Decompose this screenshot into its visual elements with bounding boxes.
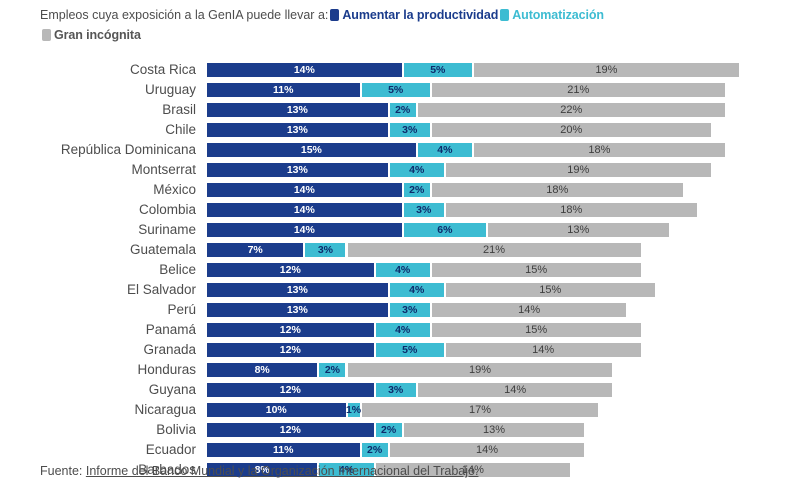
- bar-area: 12%3%14%: [206, 382, 788, 398]
- bar-segment-value: 14%: [532, 345, 554, 356]
- bar-segment-automation[interactable]: 2%: [361, 442, 389, 458]
- bar-segment-value: 12%: [280, 385, 301, 396]
- bar-segment-automation[interactable]: 3%: [375, 382, 417, 398]
- bar-area: 12%4%15%: [206, 262, 788, 278]
- bar-segment-automation[interactable]: 3%: [389, 302, 431, 318]
- row-label-guatemala: Guatemala: [0, 240, 196, 260]
- bar-segment-unknown[interactable]: 14%: [431, 302, 628, 318]
- bar-segment-value: 7%: [248, 245, 263, 256]
- bar-area: 10%1%17%: [206, 402, 788, 418]
- chart-row: Guyana12%3%14%: [0, 380, 788, 400]
- bar-segment-automation[interactable]: 2%: [389, 102, 417, 118]
- bar-segment-automation[interactable]: 4%: [389, 282, 445, 298]
- bar-segment-productivity[interactable]: 11%: [206, 442, 361, 458]
- bar-segment-unknown[interactable]: 15%: [431, 262, 642, 278]
- bar-segment-productivity[interactable]: 13%: [206, 162, 389, 178]
- bar-segment-unknown[interactable]: 15%: [431, 322, 642, 338]
- bar-segment-value: 13%: [287, 165, 308, 176]
- chart-row: Costa Rica14%5%19%: [0, 60, 788, 80]
- bar-segment-unknown[interactable]: 22%: [417, 102, 726, 118]
- chart-row: Nicaragua10%1%17%: [0, 400, 788, 420]
- bar-segment-value: 22%: [560, 105, 582, 116]
- bar-segment-value: 15%: [525, 325, 547, 336]
- bar-segment-value: 13%: [287, 105, 308, 116]
- row-label-panamá: Panamá: [0, 320, 196, 340]
- bar-segment-unknown[interactable]: 19%: [347, 362, 614, 378]
- bar-segment-productivity[interactable]: 13%: [206, 282, 389, 298]
- chart-row: Montserrat13%4%19%: [0, 160, 788, 180]
- bar-segment-productivity[interactable]: 12%: [206, 262, 375, 278]
- bar-segment-value: 14%: [294, 225, 315, 236]
- bar-segment-value: 3%: [318, 245, 333, 256]
- bar-segment-unknown[interactable]: 21%: [347, 242, 642, 258]
- chart-source-footer: Fuente: Informe del Banco Mundial y la O…: [40, 464, 478, 478]
- bar-segment-unknown[interactable]: 18%: [431, 182, 684, 198]
- chart-legend: Empleos cuya exposición a la GenIA puede…: [40, 6, 768, 45]
- row-label-ecuador: Ecuador: [0, 440, 196, 460]
- bar-segment-value: 19%: [469, 365, 491, 376]
- bar-segment-automation[interactable]: 4%: [417, 142, 473, 158]
- bar-segment-value: 13%: [287, 125, 308, 136]
- bar-segment-value: 20%: [560, 125, 582, 136]
- bar-segment-value: 18%: [560, 205, 582, 216]
- bar-segment-value: 13%: [287, 285, 308, 296]
- bar-area: 8%2%19%: [206, 362, 788, 378]
- chart-row: El Salvador13%4%15%: [0, 280, 788, 300]
- bar-segment-productivity[interactable]: 12%: [206, 322, 375, 338]
- bar-segment-value: 21%: [567, 85, 589, 96]
- bar-area: 14%3%18%: [206, 202, 788, 218]
- bar-segment-value: 4%: [437, 145, 452, 156]
- legend-label-productivity: Aumentar la productividad: [342, 8, 498, 22]
- legend-item-productivity: Aumentar la productividad: [330, 6, 498, 25]
- bar-area: 13%3%14%: [206, 302, 788, 318]
- bar-segment-value: 12%: [280, 425, 301, 436]
- legend-swatch-productivity: [330, 9, 339, 21]
- bar-area: 11%2%14%: [206, 442, 788, 458]
- bar-segment-automation[interactable]: 6%: [403, 222, 487, 238]
- bar-segment-unknown[interactable]: 14%: [445, 342, 642, 358]
- bar-segment-value: 14%: [476, 445, 498, 456]
- row-label-chile: Chile: [0, 120, 196, 140]
- bar-segment-value: 13%: [483, 425, 505, 436]
- legend-line-1: Empleos cuya exposición a la GenIA puede…: [40, 6, 768, 25]
- bar-segment-unknown[interactable]: 14%: [417, 382, 614, 398]
- chart-row: Bolivia12%2%13%: [0, 420, 788, 440]
- row-label-brasil: Brasil: [0, 100, 196, 120]
- bar-segment-value: 4%: [395, 325, 410, 336]
- bar-segment-value: 2%: [381, 425, 396, 436]
- bar-segment-automation[interactable]: 2%: [403, 182, 431, 198]
- bar-segment-value: 2%: [367, 445, 382, 456]
- chart-page: Empleos cuya exposición a la GenIA puede…: [0, 0, 788, 500]
- bar-area: 13%3%20%: [206, 122, 788, 138]
- bar-area: 11%5%21%: [206, 82, 788, 98]
- bar-segment-productivity[interactable]: 7%: [206, 242, 304, 258]
- bar-segment-productivity[interactable]: 12%: [206, 382, 375, 398]
- row-label-granada: Granada: [0, 340, 196, 360]
- bar-area: 13%2%22%: [206, 102, 788, 118]
- bar-area: 14%5%19%: [206, 62, 788, 78]
- bar-segment-productivity[interactable]: 14%: [206, 62, 403, 78]
- bar-segment-value: 11%: [273, 445, 293, 456]
- bar-segment-value: 1%: [346, 405, 361, 416]
- bar-segment-value: 12%: [280, 265, 301, 276]
- chart-row: Honduras8%2%19%: [0, 360, 788, 380]
- bar-segment-value: 4%: [409, 165, 424, 176]
- legend-line-2: Gran incógnita: [40, 26, 768, 45]
- bar-area: 15%4%18%: [206, 142, 788, 158]
- bar-segment-value: 4%: [409, 285, 424, 296]
- bar-segment-value: 5%: [388, 85, 403, 96]
- bar-segment-value: 19%: [595, 65, 617, 76]
- chart-row: Belice12%4%15%: [0, 260, 788, 280]
- bar-segment-value: 13%: [567, 225, 589, 236]
- chart-row: Guatemala7%3%21%: [0, 240, 788, 260]
- bar-segment-automation[interactable]: 4%: [375, 322, 431, 338]
- bar-segment-value: 12%: [280, 345, 301, 356]
- legend-label-unknown: Gran incógnita: [54, 28, 141, 42]
- bar-segment-unknown[interactable]: 17%: [361, 402, 600, 418]
- bar-segment-value: 4%: [395, 265, 410, 276]
- row-label-república-dominicana: República Dominicana: [0, 140, 196, 160]
- row-label-el-salvador: El Salvador: [0, 280, 196, 300]
- chart-row: Uruguay11%5%21%: [0, 80, 788, 100]
- bar-segment-productivity[interactable]: 15%: [206, 142, 417, 158]
- bar-segment-value: 3%: [388, 385, 403, 396]
- bar-segment-value: 15%: [525, 265, 547, 276]
- legend-intro-text: Empleos cuya exposición a la GenIA puede…: [40, 8, 328, 22]
- bar-segment-automation[interactable]: 5%: [375, 342, 445, 358]
- bar-segment-unknown[interactable]: 13%: [487, 222, 670, 238]
- bar-segment-productivity[interactable]: 12%: [206, 342, 375, 358]
- bar-segment-unknown[interactable]: 18%: [473, 142, 726, 158]
- bar-segment-unknown[interactable]: 14%: [389, 442, 586, 458]
- bar-segment-productivity[interactable]: 11%: [206, 82, 361, 98]
- source-link[interactable]: Informe del Banco Mundial y la Organizac…: [86, 464, 479, 478]
- bar-segment-value: 15%: [301, 145, 322, 156]
- bar-segment-value: 5%: [430, 65, 445, 76]
- bar-segment-unknown[interactable]: 20%: [431, 122, 712, 138]
- bar-segment-value: 18%: [546, 185, 568, 196]
- bar-area: 13%4%19%: [206, 162, 788, 178]
- bar-segment-value: 8%: [255, 365, 270, 376]
- bar-segment-value: 5%: [402, 345, 417, 356]
- bar-segment-automation[interactable]: 4%: [389, 162, 445, 178]
- legend-item-automation: Automatización: [500, 6, 604, 25]
- bar-segment-value: 11%: [273, 85, 293, 96]
- legend-swatch-automation: [500, 9, 509, 21]
- bar-segment-value: 14%: [294, 65, 315, 76]
- chart-row: Panamá12%4%15%: [0, 320, 788, 340]
- chart-row: Suriname14%6%13%: [0, 220, 788, 240]
- source-prefix: Fuente:: [40, 464, 82, 478]
- legend-item-unknown: Gran incógnita: [42, 26, 141, 45]
- bar-segment-unknown[interactable]: 13%: [403, 422, 586, 438]
- bar-segment-unknown[interactable]: 19%: [473, 62, 740, 78]
- chart-row: Ecuador11%2%14%: [0, 440, 788, 460]
- bar-segment-automation[interactable]: 3%: [403, 202, 445, 218]
- bar-segment-value: 17%: [469, 405, 491, 416]
- bar-segment-value: 2%: [409, 185, 424, 196]
- bar-area: 14%6%13%: [206, 222, 788, 238]
- chart-row: Granada12%5%14%: [0, 340, 788, 360]
- row-label-belice: Belice: [0, 260, 196, 280]
- bar-segment-unknown[interactable]: 15%: [445, 282, 656, 298]
- row-label-suriname: Suriname: [0, 220, 196, 240]
- bar-segment-productivity[interactable]: 14%: [206, 222, 403, 238]
- bar-area: 12%4%15%: [206, 322, 788, 338]
- row-label-honduras: Honduras: [0, 360, 196, 380]
- bar-segment-value: 18%: [588, 145, 610, 156]
- bar-segment-value: 14%: [518, 305, 540, 316]
- row-label-guyana: Guyana: [0, 380, 196, 400]
- bar-area: 12%2%13%: [206, 422, 788, 438]
- chart-row: Colombia14%3%18%: [0, 200, 788, 220]
- bar-segment-productivity[interactable]: 13%: [206, 102, 389, 118]
- bar-segment-automation[interactable]: 5%: [403, 62, 473, 78]
- legend-label-automation: Automatización: [512, 8, 604, 22]
- bar-segment-unknown[interactable]: 21%: [431, 82, 726, 98]
- bar-segment-productivity[interactable]: 13%: [206, 302, 389, 318]
- bar-segment-value: 6%: [437, 225, 452, 236]
- bar-segment-value: 21%: [483, 245, 505, 256]
- row-label-costa-rica: Costa Rica: [0, 60, 196, 80]
- bar-segment-value: 15%: [539, 285, 561, 296]
- bar-segment-productivity[interactable]: 14%: [206, 202, 403, 218]
- row-label-nicaragua: Nicaragua: [0, 400, 196, 420]
- bar-segment-productivity[interactable]: 8%: [206, 362, 318, 378]
- bar-segment-value: 2%: [325, 365, 340, 376]
- bar-area: 14%2%18%: [206, 182, 788, 198]
- bar-segment-value: 19%: [567, 165, 589, 176]
- bar-segment-automation[interactable]: 2%: [318, 362, 346, 378]
- chart-row: Brasil13%2%22%: [0, 100, 788, 120]
- bar-segment-automation[interactable]: 4%: [375, 262, 431, 278]
- bar-segment-productivity[interactable]: 10%: [206, 402, 347, 418]
- bar-segment-value: 14%: [504, 385, 526, 396]
- bar-segment-productivity[interactable]: 12%: [206, 422, 375, 438]
- bar-segment-value: 10%: [266, 405, 287, 416]
- row-label-perú: Perú: [0, 300, 196, 320]
- bar-segment-value: 2%: [395, 105, 410, 116]
- bar-segment-automation[interactable]: 3%: [304, 242, 346, 258]
- bar-segment-productivity[interactable]: 14%: [206, 182, 403, 198]
- chart-row: Chile13%3%20%: [0, 120, 788, 140]
- bar-segment-value: 3%: [402, 305, 417, 316]
- bar-segment-productivity[interactable]: 13%: [206, 122, 389, 138]
- chart-row: República Dominicana15%4%18%: [0, 140, 788, 160]
- bar-segment-value: 3%: [402, 125, 417, 136]
- row-label-bolivia: Bolivia: [0, 420, 196, 440]
- bar-segment-value: 13%: [287, 305, 308, 316]
- row-label-montserrat: Montserrat: [0, 160, 196, 180]
- bar-segment-unknown[interactable]: 18%: [445, 202, 698, 218]
- bar-segment-value: 3%: [416, 205, 431, 216]
- chart-row: Perú13%3%14%: [0, 300, 788, 320]
- bar-area: 12%5%14%: [206, 342, 788, 358]
- bar-segment-automation[interactable]: 1%: [347, 402, 361, 418]
- row-label-uruguay: Uruguay: [0, 80, 196, 100]
- bar-segment-automation[interactable]: 3%: [389, 122, 431, 138]
- bar-segment-value: 12%: [280, 325, 301, 336]
- row-label-méxico: México: [0, 180, 196, 200]
- bar-segment-automation[interactable]: 5%: [361, 82, 431, 98]
- bar-area: 7%3%21%: [206, 242, 788, 258]
- stacked-bar-chart: Costa Rica14%5%19%Uruguay11%5%21%Brasil1…: [0, 60, 788, 480]
- bar-segment-unknown[interactable]: 19%: [445, 162, 712, 178]
- chart-row: México14%2%18%: [0, 180, 788, 200]
- bar-area: 13%4%15%: [206, 282, 788, 298]
- bar-segment-automation[interactable]: 2%: [375, 422, 403, 438]
- legend-swatch-unknown: [42, 29, 51, 41]
- row-label-colombia: Colombia: [0, 200, 196, 220]
- bar-segment-value: 14%: [294, 205, 315, 216]
- bar-segment-value: 14%: [294, 185, 315, 196]
